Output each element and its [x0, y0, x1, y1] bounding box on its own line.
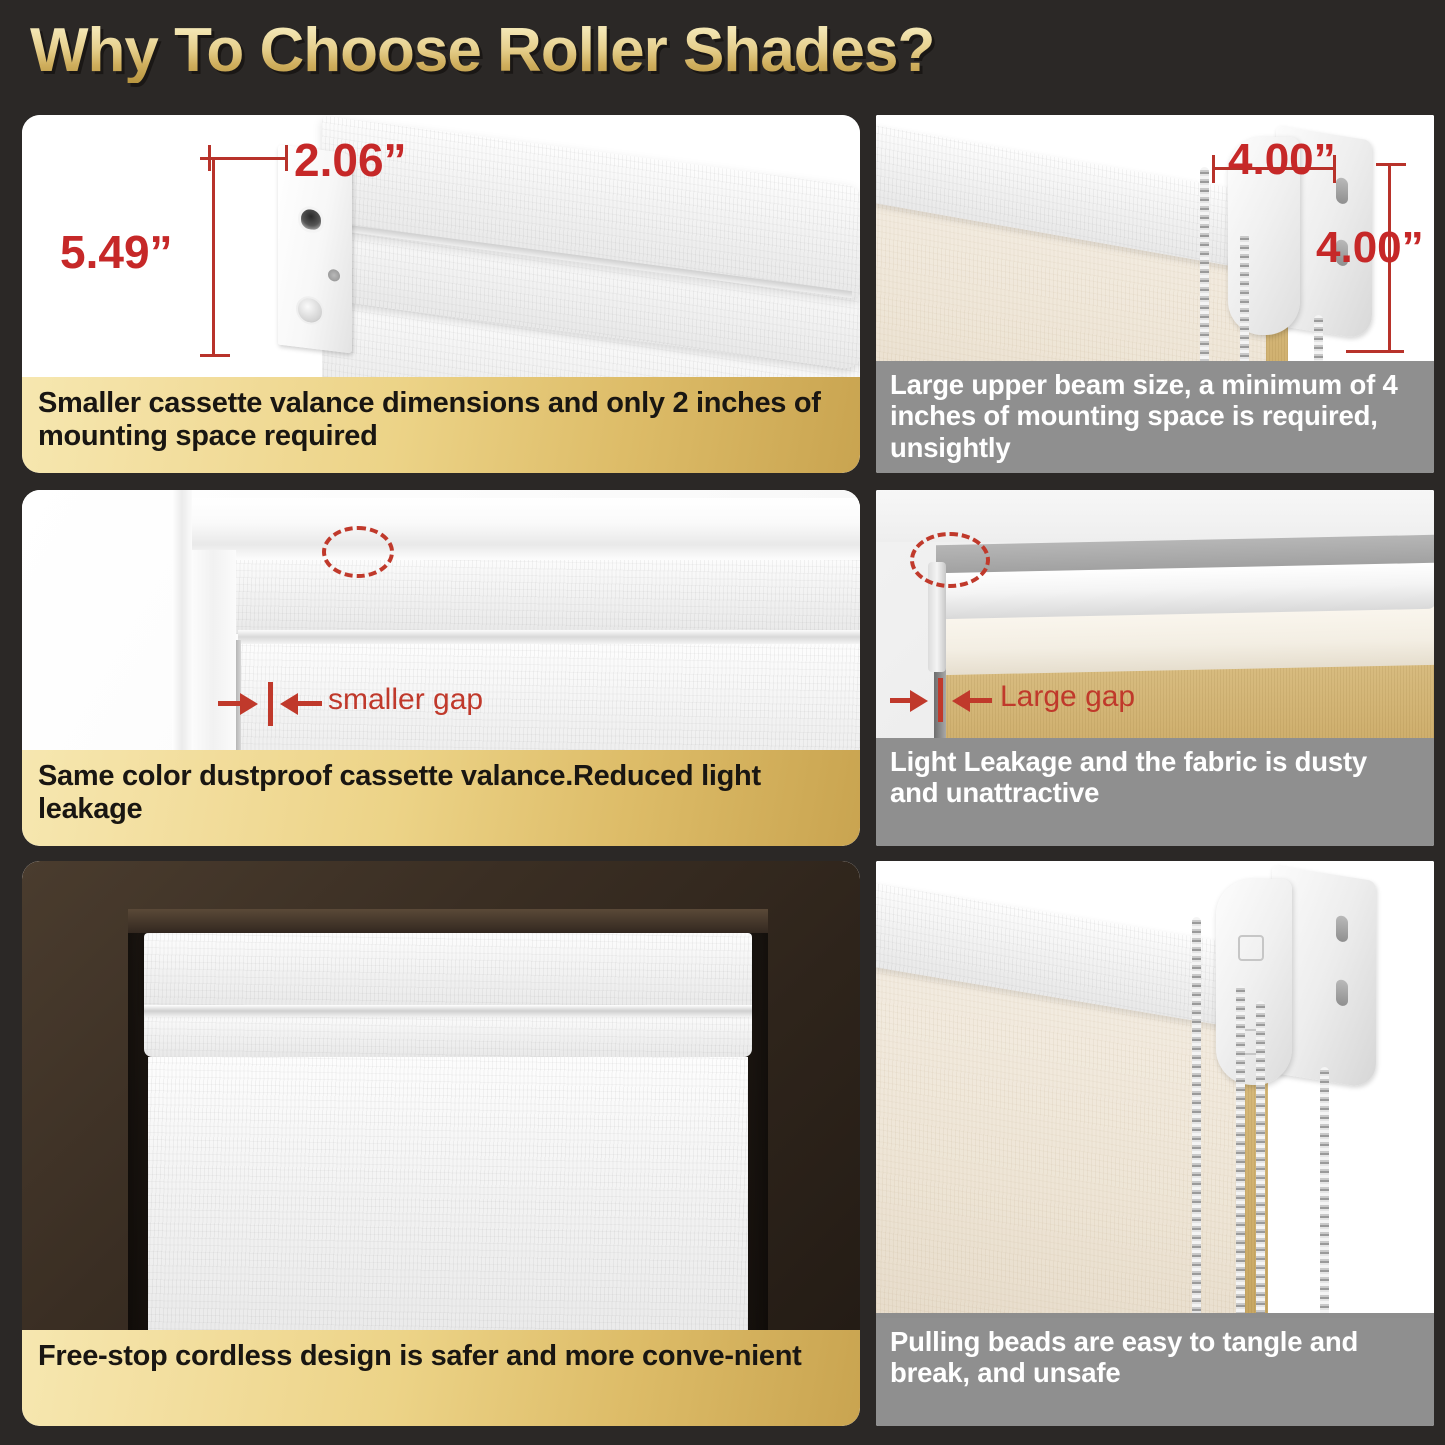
gap-arrow-stem-left: [218, 701, 242, 706]
highlight-ellipse-icon: [910, 532, 990, 588]
gap-arrow-stem-left: [890, 698, 912, 703]
gap-arrow-left-icon: [280, 693, 298, 715]
gap-arrow-left-icon: [952, 690, 970, 712]
bead-chain-left: [1200, 167, 1209, 365]
rotation-arrow-icon: [1238, 935, 1264, 961]
panel-2-caption: Large upper beam size, a minimum of 4 in…: [876, 361, 1434, 473]
window-trim-outer: [172, 490, 192, 762]
shade-fabric: [148, 1057, 748, 1331]
window-trim-top: [190, 498, 860, 560]
bracket-slot-lower: [1336, 979, 1348, 1007]
panel-2-image: 4.00” 4.00”: [876, 115, 1434, 365]
panel-6-image: [876, 861, 1434, 1331]
gap-arrow-right-icon: [910, 690, 928, 712]
gap-arrow-right-icon: [240, 693, 258, 715]
panel-pulling-beads: Pulling beads are easy to tangle and bre…: [876, 861, 1434, 1426]
panel-1-caption: Smaller cassette valance dimensions and …: [22, 377, 860, 473]
dimension-label-height: 5.49”: [60, 225, 173, 279]
panel-1-image: 2.06” 5.49”: [22, 115, 860, 377]
valance-lip: [144, 1005, 752, 1017]
dimension-tick-left: [1212, 155, 1215, 183]
panel-4-image: Large gap: [876, 490, 1434, 738]
page-title: Why To Choose Roller Shades?: [30, 18, 934, 83]
bead-chain-mid: [1236, 985, 1245, 1331]
panel-large-upper-beam: 4.00” 4.00” Large upper beam size, a min…: [876, 115, 1434, 473]
panel-smaller-gap-dustproof: smaller gap Same color dustproof cassett…: [22, 490, 860, 846]
bracket-slot-upper: [1336, 177, 1348, 205]
bead-chain-left: [1192, 917, 1201, 1331]
bead-chain-mid: [1240, 233, 1249, 365]
panel-5-caption: Free-stop cordless design is safer and m…: [22, 1330, 860, 1426]
panel-6-caption: Pulling beads are easy to tangle and bre…: [876, 1318, 1434, 1426]
valance-lower: [144, 1013, 752, 1057]
panel-4-caption: Light Leakage and the fabric is dusty an…: [876, 738, 1434, 846]
gap-arrow-stem-right: [298, 701, 322, 706]
panel-3-image: smaller gap: [22, 490, 860, 762]
dimension-label-width: 4.00”: [1228, 135, 1336, 185]
gap-marker-bar: [938, 678, 943, 722]
bracket-pin: [296, 295, 324, 326]
cassette-valance: [144, 933, 752, 1011]
dimension-tick-right: [285, 145, 288, 171]
dimension-label-height: 4.00”: [1316, 223, 1424, 273]
bracket-screw: [328, 269, 340, 282]
bead-chain-mid-2: [1256, 1001, 1265, 1331]
panel-large-gap-light-leakage: Large gap Light Leakage and the fabric i…: [876, 490, 1434, 846]
window-recess-top: [128, 909, 768, 933]
dimension-tick-bottom: [1346, 350, 1404, 353]
panel-cassette-valance-dimensions: 2.06” 5.49” Smaller cassette valance dim…: [22, 115, 860, 473]
bracket-hole: [298, 205, 324, 234]
dimension-tick-top: [1376, 163, 1406, 166]
panel-cordless-design: Free-stop cordless design is safer and m…: [22, 861, 860, 1426]
roller-end-cap: [1216, 879, 1292, 1085]
dimension-tick-bottom: [200, 354, 230, 357]
dimension-label-width: 2.06”: [294, 133, 407, 187]
panel-3-caption: Same color dustproof cassette valance.Re…: [22, 750, 860, 846]
gap-label: Large gap: [1000, 680, 1135, 714]
gap-label: smaller gap: [328, 683, 483, 717]
valance-lip: [238, 630, 860, 644]
gap-marker-bar: [268, 682, 273, 726]
dimension-tick-top: [200, 157, 230, 160]
gap-arrow-stem-right: [970, 698, 992, 703]
panel-5-image: [22, 861, 860, 1331]
bracket-slot-upper: [1336, 915, 1348, 943]
infographic-root: Why To Choose Roller Shades? Why To Choo…: [0, 0, 1445, 1445]
bead-chain-right: [1314, 315, 1323, 365]
dimension-line-height: [212, 157, 215, 357]
bead-chain-right: [1320, 1067, 1329, 1331]
highlight-ellipse-icon: [322, 526, 394, 578]
window-trim-left: [190, 550, 236, 762]
